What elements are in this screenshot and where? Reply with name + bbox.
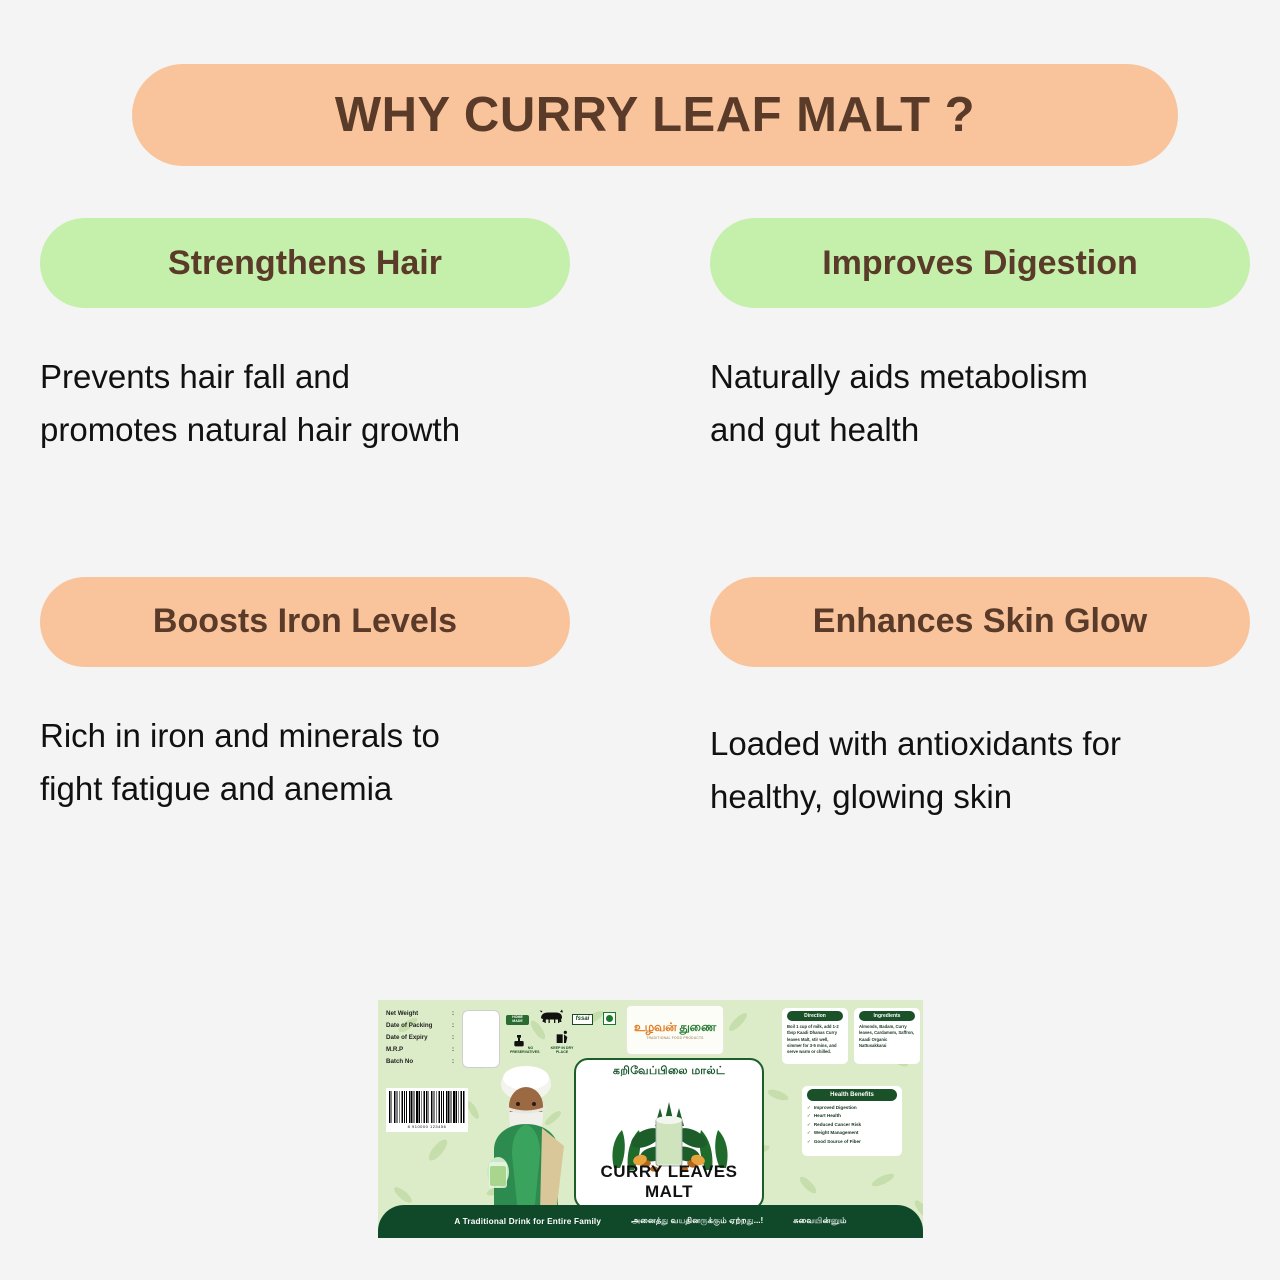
benefit-pill-improves-digestion: Improves Digestion xyxy=(710,218,1250,308)
fssai-icon: fssai xyxy=(571,1014,594,1025)
keep-in-dry-place-icon: KEEP IN DRY PLACE xyxy=(550,1029,574,1055)
certification-icons-row-2: NO PRESERVATIVES KEEP IN DRY PLACE xyxy=(506,1029,626,1055)
direction-box-header: Direction xyxy=(787,1011,843,1021)
benefit-description: Loaded with antioxidants for healthy, gl… xyxy=(710,717,1260,824)
label-footer-english: A Traditional Drink for Entire Family xyxy=(454,1217,601,1226)
brand-logo-tamil: உழவன் துணை xyxy=(634,1021,716,1033)
check-icon: ✓ xyxy=(807,1129,811,1137)
label-field-name: Date of Expiry xyxy=(386,1032,452,1044)
health-benefit-item: ✓ Improved Digestion xyxy=(807,1104,898,1112)
benefit-description: Naturally aids metabolism and gut health xyxy=(710,350,1260,457)
product-label-image: Net Weight : Date of Packing : Date of E… xyxy=(378,1000,923,1238)
certification-icons-row-1: HOME MADE fssai xyxy=(506,1008,626,1025)
benefit-description: Rich in iron and minerals to fight fatig… xyxy=(40,709,600,816)
ingredients-box-body: Almonds, Badam, Curry leaves, Cardamom, … xyxy=(854,1024,920,1052)
brand-tagline: TRADITIONAL FOOD PRODUCTS xyxy=(646,1036,703,1040)
benefit-card-improves-digestion: Improves Digestion Naturally aids metabo… xyxy=(640,218,1280,457)
benefit-pill-label: Strengthens Hair xyxy=(168,244,442,283)
center-logo-english-title: CURRY LEAVES MALT xyxy=(576,1162,762,1202)
veg-mark-icon xyxy=(603,1012,626,1025)
direction-box-body: Boil 1 cup of milk, add 1-2 tbsp Kaadi D… xyxy=(782,1024,848,1058)
barcode-number: 8 910000 123456 xyxy=(389,1124,465,1129)
label-field-name: Net Weight xyxy=(386,1008,452,1020)
direction-box: Direction Boil 1 cup of milk, add 1-2 tb… xyxy=(782,1008,848,1064)
label-field-sep: : xyxy=(452,1032,454,1044)
benefits-row-2: Boosts Iron Levels Rich in iron and mine… xyxy=(0,577,1280,824)
health-benefit-item: ✓ Reduced Cancer Risk xyxy=(807,1121,898,1129)
label-field-sep: : xyxy=(452,1008,454,1020)
page-title: WHY CURRY LEAF MALT ? xyxy=(335,87,975,143)
barcode-bars xyxy=(389,1091,465,1123)
label-field-name: Date of Packing xyxy=(386,1020,452,1032)
infographic-page: WHY CURRY LEAF MALT ? Strengthens Hair P… xyxy=(0,0,1280,1280)
benefit-pill-strengthens-hair: Strengthens Hair xyxy=(40,218,570,308)
center-product-logo: கறிவேப்பிலை மால்ட் xyxy=(574,1058,764,1210)
label-footer-band: A Traditional Drink for Entire Family அன… xyxy=(378,1205,923,1238)
certification-icons: HOME MADE fssai xyxy=(506,1008,626,1055)
check-icon: ✓ xyxy=(807,1121,811,1129)
brand-tamil-primary: உழவன் xyxy=(634,1020,676,1034)
home-made-badge-icon: HOME MADE xyxy=(506,1015,529,1025)
health-benefit-label: Weight Management xyxy=(814,1129,859,1137)
health-benefit-item: ✓ Good Source of Fiber xyxy=(807,1138,898,1146)
label-field-name: Batch No xyxy=(386,1056,452,1068)
benefit-card-boosts-iron-levels: Boosts Iron Levels Rich in iron and mine… xyxy=(0,577,640,824)
health-benefit-label: Improved Digestion xyxy=(814,1104,857,1112)
benefits-row-1: Strengthens Hair Prevents hair fall and … xyxy=(0,218,1280,457)
health-benefit-label: Heart Health xyxy=(814,1112,841,1120)
label-field-sep: : xyxy=(452,1056,454,1068)
benefit-pill-label: Enhances Skin Glow xyxy=(813,602,1147,641)
farmer-illustration xyxy=(468,1062,584,1214)
barcode: 8 910000 123456 xyxy=(386,1088,468,1132)
benefit-pill-label: Improves Digestion xyxy=(822,244,1138,283)
benefit-card-enhances-skin-glow: Enhances Skin Glow Loaded with antioxida… xyxy=(640,577,1280,824)
health-benefits-list: ✓ Improved Digestion ✓ Heart Health ✓ Re… xyxy=(802,1104,902,1149)
benefit-card-strengthens-hair: Strengthens Hair Prevents hair fall and … xyxy=(0,218,640,457)
brand-logo: உழவன் துணை TRADITIONAL FOOD PRODUCTS xyxy=(627,1006,723,1054)
benefits-grid: Strengthens Hair Prevents hair fall and … xyxy=(0,218,1280,824)
health-benefit-label: Reduced Cancer Risk xyxy=(814,1121,861,1129)
page-title-banner: WHY CURRY LEAF MALT ? xyxy=(132,64,1178,166)
benefit-pill-label: Boosts Iron Levels xyxy=(153,602,457,641)
label-blank-value-box xyxy=(462,1010,500,1068)
ingredients-box-header: Ingredients xyxy=(859,1011,915,1021)
label-field-name: M.R.P xyxy=(386,1044,452,1056)
cow-a2-milk-icon xyxy=(538,1008,562,1025)
label-footer-tamil-1: அனைத்து வயதினருக்கும் ஏற்றது...! xyxy=(631,1216,763,1227)
center-logo-tamil-title: கறிவேப்பிலை மால்ட் xyxy=(576,1065,762,1079)
benefit-description: Prevents hair fall and promotes natural … xyxy=(40,350,600,457)
health-benefits-header: Health Benefits xyxy=(807,1089,897,1101)
health-benefit-item: ✓ Weight Management xyxy=(807,1129,898,1137)
no-preservatives-icon: NO PRESERVATIVES xyxy=(510,1033,534,1055)
label-field-sep: : xyxy=(452,1020,454,1032)
health-benefit-item: ✓ Heart Health xyxy=(807,1112,898,1120)
check-icon: ✓ xyxy=(807,1138,811,1146)
ingredients-box: Ingredients Almonds, Badam, Curry leaves… xyxy=(854,1008,920,1064)
label-footer-tamil-2: சுவையின்னும் xyxy=(793,1216,846,1227)
health-benefits-box: Health Benefits ✓ Improved Digestion ✓ H… xyxy=(802,1086,902,1156)
benefit-pill-boosts-iron-levels: Boosts Iron Levels xyxy=(40,577,570,667)
health-benefit-label: Good Source of Fiber xyxy=(814,1138,861,1146)
check-icon: ✓ xyxy=(807,1112,811,1120)
label-field-sep: : xyxy=(452,1044,454,1056)
benefit-pill-enhances-skin-glow: Enhances Skin Glow xyxy=(710,577,1250,667)
brand-tamil-secondary: துணை xyxy=(680,1020,716,1034)
check-icon: ✓ xyxy=(807,1104,811,1112)
